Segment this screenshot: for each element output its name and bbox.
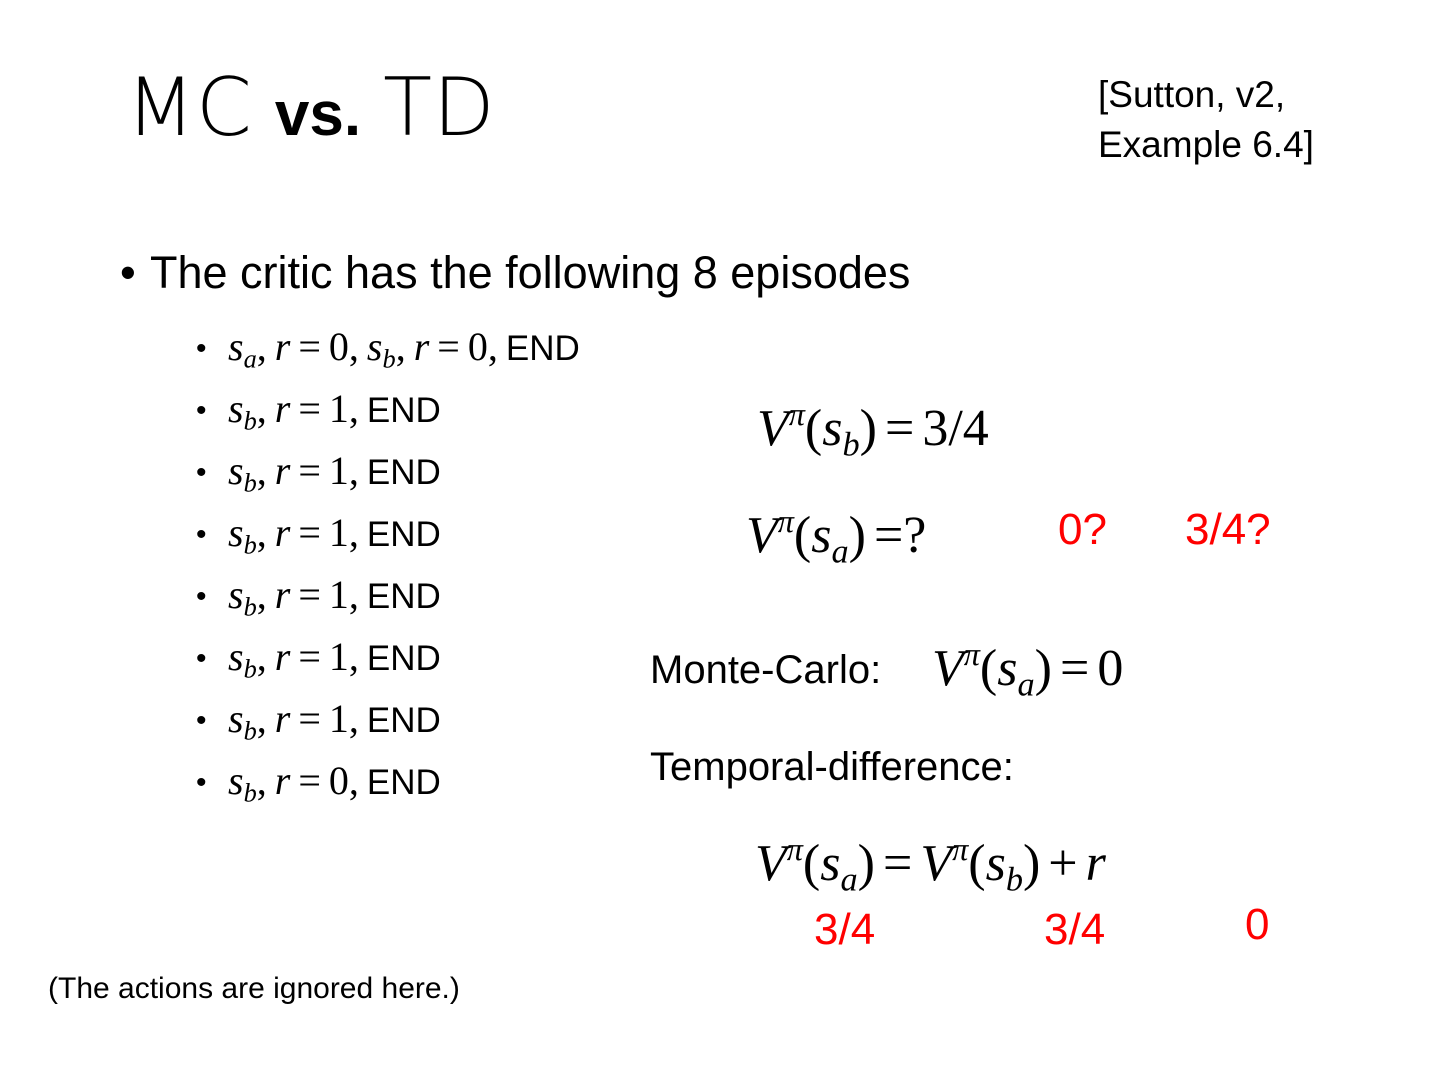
bullet-marker: • [196, 396, 228, 426]
end-label: END [367, 763, 441, 802]
reward-value: 1 [329, 510, 349, 555]
list-item: • sb,r=1,END [196, 442, 580, 504]
reward-symbol: r [275, 386, 291, 431]
main-bullet: •The critic has the following 8 episodes [120, 250, 910, 295]
end-label: END [367, 453, 441, 492]
state-symbol: s [228, 572, 244, 617]
slide-canvas: MCvs.TD [Sutton, v2, Example 6.4] •The c… [0, 0, 1442, 1082]
state-symbol: s [228, 510, 244, 555]
citation-line-2: Example 6.4] [1098, 120, 1314, 170]
bullet-marker: • [120, 250, 150, 295]
episode-list: • sa,r=0,sb,r=0,END • sb,r=1,END • sb,r=… [196, 318, 580, 814]
episode-expression: sb,r=0,END [228, 757, 441, 808]
temporal-difference-label: Temporal-difference: [650, 745, 1014, 790]
page-title: MCvs.TD [126, 68, 496, 148]
end-label: END [506, 329, 580, 368]
state-subscript: b [244, 406, 257, 436]
state-subscript-rhs: b [1006, 860, 1023, 898]
end-label: END [367, 515, 441, 554]
equation-value-sb: Vπ(sb)=3/4 [757, 398, 989, 462]
reward-symbol: r [275, 572, 291, 617]
title-part-mc: MC [126, 61, 253, 154]
state-subscript: b [244, 778, 257, 808]
state-symbol: s [228, 448, 244, 493]
reward-symbol: r [275, 634, 291, 679]
value-function-symbol: V [932, 640, 964, 697]
bullet-marker: • [196, 768, 228, 798]
state-subscript: b [244, 592, 257, 622]
episode-expression: sb,r=1,END [228, 509, 441, 560]
bullet-marker: • [196, 582, 228, 612]
policy-superscript: π [789, 396, 805, 432]
state-symbol-2: s [367, 324, 383, 369]
state-subscript: a [244, 344, 257, 374]
end-label: END [367, 577, 441, 616]
state-subscript: b [843, 425, 860, 463]
list-item: • sa,r=0,sb,r=0,END [196, 318, 580, 380]
reward-symbol: r [275, 510, 291, 555]
bullet-marker: • [196, 644, 228, 674]
state-subscript: b [244, 530, 257, 560]
state-symbol: s [228, 386, 244, 431]
reward-symbol-2: r [414, 324, 430, 369]
state-symbol: s [997, 640, 1017, 697]
episode-expression: sb,r=1,END [228, 571, 441, 622]
reward-symbol: r [275, 696, 291, 741]
reward-value: 0 [329, 324, 349, 369]
value-function-symbol: V [757, 400, 789, 457]
footnote-note: (The actions are ignored here.) [48, 974, 460, 1004]
state-symbol-rhs: s [986, 835, 1006, 892]
annotation-td-reward-value: 0 [1245, 903, 1269, 947]
state-subscript: a [1018, 665, 1035, 703]
main-bullet-label: The critic has the following 8 episodes [150, 247, 910, 298]
bullet-marker: • [196, 520, 228, 550]
equation-monte-carlo: Vπ(sa)=0 [932, 638, 1123, 702]
episode-expression: sb,r=1,END [228, 447, 441, 498]
reward-symbol: r [275, 448, 291, 493]
state-symbol: s [228, 696, 244, 741]
end-label: END [367, 391, 441, 430]
title-part-vs: vs. [275, 80, 361, 149]
state-subscript-2: b [383, 344, 396, 374]
citation-line-1: [Sutton, v2, [1098, 70, 1314, 120]
state-symbol: s [228, 758, 244, 803]
state-symbol: s [228, 634, 244, 679]
state-symbol: s [820, 835, 840, 892]
bullet-marker: • [196, 706, 228, 736]
state-symbol: s [811, 507, 831, 564]
policy-superscript: π [964, 636, 980, 672]
value-function-symbol: V [746, 507, 778, 564]
equation-value-sa-question: Vπ(sa)=? [746, 505, 926, 569]
relation-operator: =? [874, 507, 926, 564]
list-item: • sb,r=1,END [196, 690, 580, 752]
policy-superscript: π [778, 503, 794, 539]
relation-operator: = [885, 400, 914, 457]
state-subscript: b [244, 468, 257, 498]
plus-operator: + [1048, 835, 1077, 892]
relation-operator: = [1060, 640, 1089, 697]
episode-expression: sa,r=0,sb,r=0,END [228, 323, 580, 374]
reward-symbol: r [275, 758, 291, 803]
annotation-option-three-quarters: 3/4? [1185, 508, 1271, 552]
list-item: • sb,r=1,END [196, 628, 580, 690]
reward-value: 1 [329, 572, 349, 617]
value-function-symbol-rhs: V [920, 835, 952, 892]
list-item: • sb,r=1,END [196, 504, 580, 566]
reward-value-2: 0 [468, 324, 488, 369]
state-subscript: b [244, 654, 257, 684]
list-item: • sb,r=1,END [196, 566, 580, 628]
state-subscript: a [841, 860, 858, 898]
list-item: • sb,r=1,END [196, 380, 580, 442]
episode-expression: sb,r=1,END [228, 633, 441, 684]
bullet-marker: • [196, 334, 228, 364]
citation-reference: [Sutton, v2, Example 6.4] [1098, 70, 1314, 170]
reward-value: 1 [329, 634, 349, 679]
state-symbol: s [228, 324, 244, 369]
state-subscript: b [244, 716, 257, 746]
state-subscript: a [832, 532, 849, 570]
reward-value: 1 [329, 448, 349, 493]
episode-expression: sb,r=1,END [228, 385, 441, 436]
reward-symbol: r [1086, 835, 1106, 892]
monte-carlo-label: Monte-Carlo: [650, 648, 881, 693]
value-function-symbol: V [755, 835, 787, 892]
annotation-td-rhs-value: 3/4 [1044, 908, 1105, 952]
equation-result: 0 [1097, 640, 1123, 697]
reward-value: 0 [329, 758, 349, 803]
state-symbol: s [822, 400, 842, 457]
title-part-td: TD [383, 61, 495, 154]
reward-value: 1 [329, 386, 349, 431]
equation-result: 3/4 [922, 400, 988, 457]
policy-superscript: π [787, 831, 803, 867]
list-item: • sb,r=0,END [196, 752, 580, 814]
equation-temporal-difference: Vπ(sa)=Vπ(sb)+r [755, 833, 1106, 897]
bullet-marker: • [196, 458, 228, 488]
annotation-option-zero: 0? [1058, 508, 1107, 552]
reward-value: 1 [329, 696, 349, 741]
episode-expression: sb,r=1,END [228, 695, 441, 746]
end-label: END [367, 639, 441, 678]
reward-symbol: r [275, 324, 291, 369]
annotation-td-lhs-value: 3/4 [814, 908, 875, 952]
end-label: END [367, 701, 441, 740]
policy-superscript-rhs: π [952, 831, 968, 867]
relation-operator: = [883, 835, 912, 892]
